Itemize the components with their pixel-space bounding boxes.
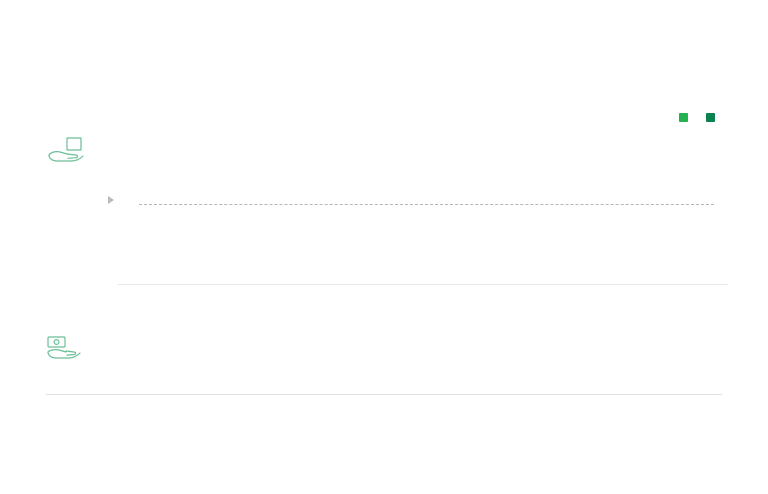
chart-legend	[679, 113, 720, 122]
average-share-annotation	[46, 136, 108, 175]
spending-multiplier-label	[46, 372, 108, 385]
reference-marker	[104, 196, 114, 204]
stacked-bar-plot	[139, 135, 714, 283]
money-in-hand-icon	[46, 335, 88, 363]
triangle-right-icon	[108, 196, 114, 204]
legend-swatch-bottom-80	[706, 113, 715, 122]
spending-multiplier-annotation	[46, 335, 108, 385]
x-axis-line	[118, 284, 728, 285]
legend-swatch-top-20	[679, 113, 688, 122]
footer-divider	[46, 394, 722, 395]
legend-item-bottom-80[interactable]	[706, 113, 720, 122]
chart-page	[0, 0, 768, 494]
category-labels	[139, 292, 714, 320]
legend-item-top-20[interactable]	[679, 113, 693, 122]
hand-holding-box-icon	[46, 136, 92, 168]
